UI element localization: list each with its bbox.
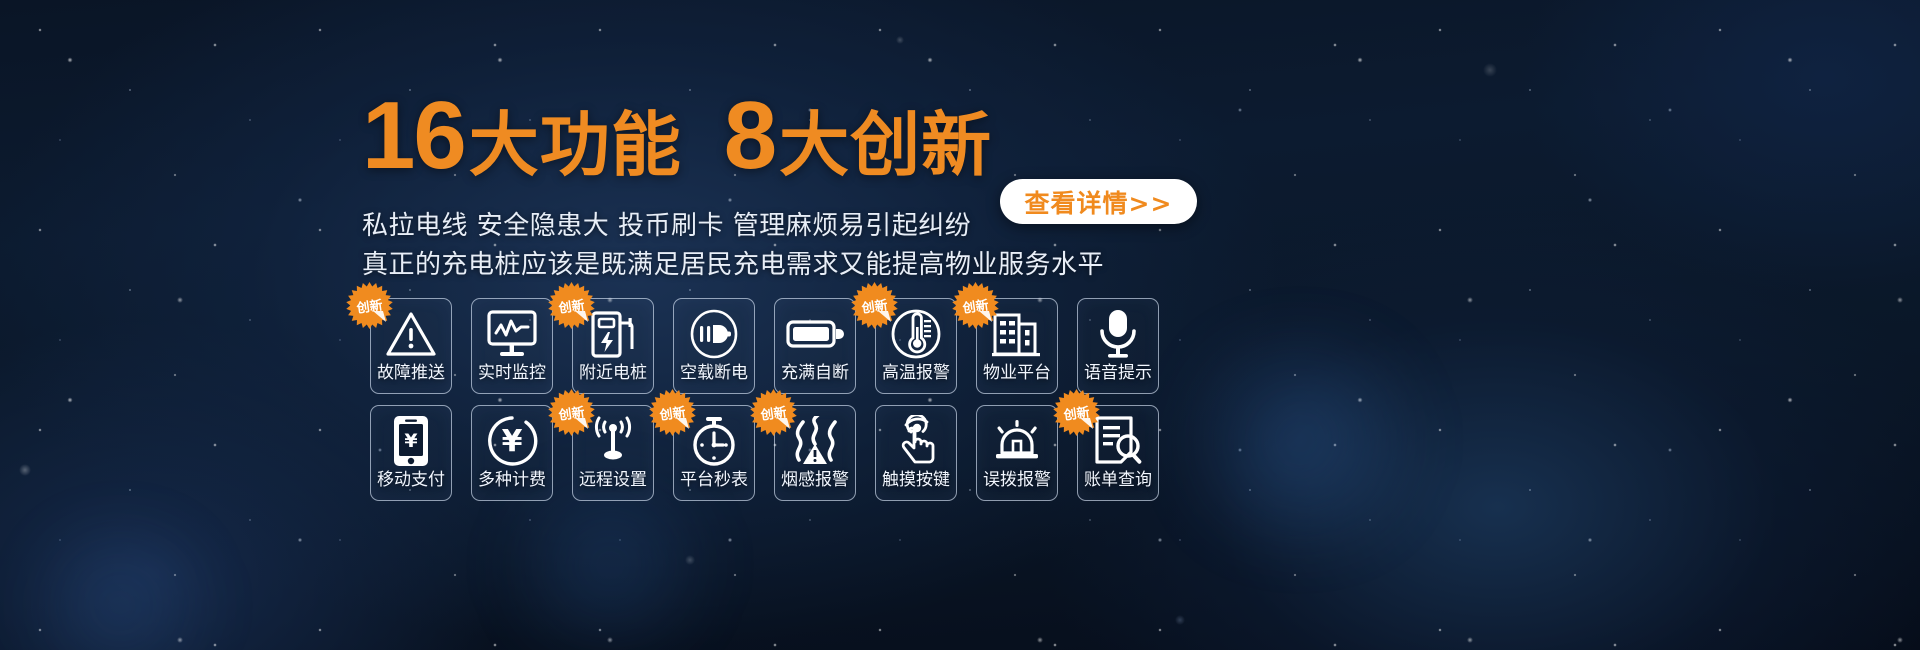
building-icon	[977, 305, 1057, 363]
headline-word-innovations: 大创新	[779, 110, 992, 184]
feature-cell: 高温报警 创新	[865, 298, 966, 397]
feature-card-warning-triangle[interactable]: 故障推送	[370, 298, 452, 394]
feature-card-touch-hand[interactable]: 触摸按键	[875, 405, 957, 501]
feature-cell: 故障推送 创新	[360, 298, 461, 397]
feature-cell: 账单查询 创新	[1067, 405, 1168, 504]
feature-grid: 故障推送 创新实时监控附近电桩 创新空载断电充满自断高温报警 创新物业平台 创新…	[360, 298, 1168, 504]
feature-label: 误拨报警	[983, 472, 1051, 489]
battery-full-icon	[775, 305, 855, 363]
feature-label: 空载断电	[680, 365, 748, 382]
mobile-yuan-icon: ¥	[371, 412, 451, 470]
feature-label: 账单查询	[1084, 472, 1152, 489]
feature-card-building[interactable]: 物业平台	[976, 298, 1058, 394]
feature-label: 故障推送	[377, 365, 445, 382]
feature-label: 附近电桩	[579, 365, 647, 382]
warning-triangle-icon	[371, 305, 451, 363]
feature-label: 平台秒表	[680, 472, 748, 489]
bill-search-icon	[1078, 412, 1158, 470]
feature-label: 多种计费	[478, 472, 546, 489]
headline-number-innovations: 8	[724, 88, 775, 184]
feature-cell: ¥多种计费	[461, 405, 562, 504]
feature-cell: 实时监控	[461, 298, 562, 397]
thermometer-circle-icon	[876, 305, 956, 363]
charging-pile-icon	[573, 305, 653, 363]
feature-cell: 语音提示	[1067, 298, 1168, 397]
feature-card-charging-pile[interactable]: 附近电桩	[572, 298, 654, 394]
promo-banner: 16 大功能 8 大创新 私拉电线 安全隐患大 投币刷卡 管理麻烦易引起纠纷 真…	[0, 0, 1920, 650]
subtitle-line-2: 真正的充电桩应该是既满足居民充电需求又能提高物业服务水平	[362, 247, 1104, 284]
siren-icon	[977, 412, 1057, 470]
microphone-icon	[1078, 305, 1158, 363]
feature-label: 物业平台	[983, 365, 1051, 382]
feature-card-smoke-alarm[interactable]: 烟感报警	[774, 405, 856, 501]
feature-cell: 触摸按键	[865, 405, 966, 504]
antenna-signal-icon	[573, 412, 653, 470]
feature-label: 实时监控	[478, 365, 546, 382]
nebula-glow-left	[0, 520, 240, 650]
plug-circle-icon	[674, 305, 754, 363]
feature-card-thermometer-circle[interactable]: 高温报警	[875, 298, 957, 394]
feature-card-monitor-waveform[interactable]: 实时监控	[471, 298, 553, 394]
yuan-circle-icon: ¥	[472, 412, 552, 470]
feature-cell: 误拨报警	[966, 405, 1067, 504]
feature-label: 充满自断	[781, 365, 849, 382]
feature-cell: 远程设置 创新	[562, 405, 663, 504]
subtitle-line-1: 私拉电线 安全隐患大 投币刷卡 管理麻烦易引起纠纷	[362, 208, 1104, 245]
feature-cell: 充满自断	[764, 298, 865, 397]
monitor-waveform-icon	[472, 305, 552, 363]
feature-card-yuan-circle[interactable]: ¥多种计费	[471, 405, 553, 501]
feature-card-battery-full[interactable]: 充满自断	[774, 298, 856, 394]
feature-label: 触摸按键	[882, 472, 950, 489]
smoke-alarm-icon	[775, 412, 855, 470]
feature-label: 语音提示	[1084, 365, 1152, 382]
feature-label: 移动支付	[377, 472, 445, 489]
svg-text:¥: ¥	[404, 430, 417, 452]
feature-card-siren[interactable]: 误拨报警	[976, 405, 1058, 501]
feature-cell: 烟感报警 创新	[764, 405, 865, 504]
subtitle-block: 私拉电线 安全隐患大 投币刷卡 管理麻烦易引起纠纷 真正的充电桩应该是既满足居民…	[362, 208, 1104, 286]
feature-cell: 物业平台 创新	[966, 298, 1067, 397]
feature-card-plug-circle[interactable]: 空载断电	[673, 298, 755, 394]
feature-card-stopwatch[interactable]: 平台秒表	[673, 405, 755, 501]
feature-label: 高温报警	[882, 365, 950, 382]
headline: 16 大功能 8 大创新	[362, 88, 992, 184]
feature-label: 远程设置	[579, 472, 647, 489]
feature-cell: ¥移动支付	[360, 405, 461, 504]
feature-cell: 平台秒表 创新	[663, 405, 764, 504]
svg-text:¥: ¥	[502, 424, 523, 459]
feature-card-antenna-signal[interactable]: 远程设置	[572, 405, 654, 501]
view-details-button[interactable]: 查看详情>>	[1000, 179, 1197, 224]
feature-cell: 附近电桩 创新	[562, 298, 663, 397]
stopwatch-icon	[674, 412, 754, 470]
feature-card-mobile-yuan[interactable]: ¥移动支付	[370, 405, 452, 501]
feature-label: 烟感报警	[781, 472, 849, 489]
headline-number-functions: 16	[362, 88, 465, 184]
touch-hand-icon	[876, 412, 956, 470]
feature-cell: 空载断电	[663, 298, 764, 397]
feature-card-bill-search[interactable]: 账单查询	[1077, 405, 1159, 501]
headline-word-functions: 大功能	[469, 110, 682, 184]
nebula-glow-right	[1150, 330, 1450, 550]
feature-card-microphone[interactable]: 语音提示	[1077, 298, 1159, 394]
